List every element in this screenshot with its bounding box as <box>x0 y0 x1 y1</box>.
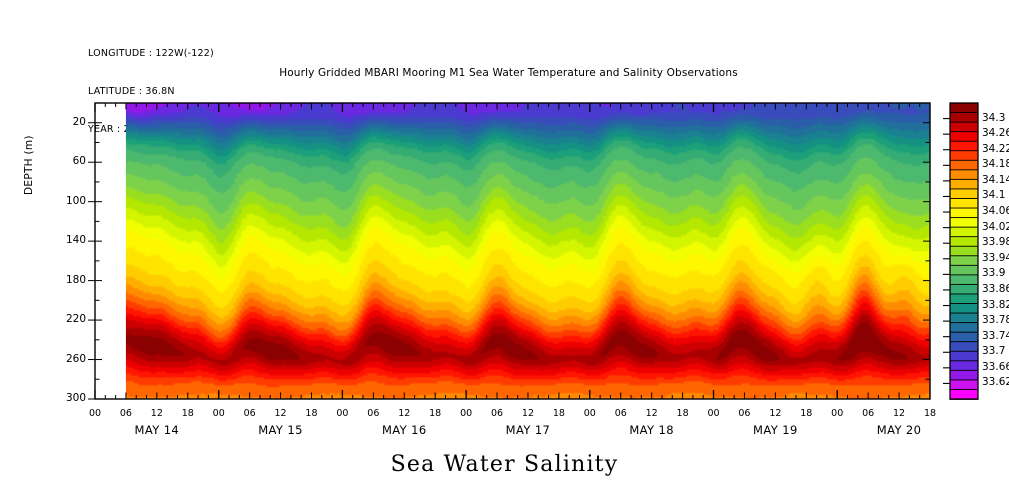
colorbar-tick-label: 33.78 <box>982 315 1009 326</box>
colorbar-tick-label: 34.1 <box>982 190 1005 201</box>
colorbar-tick-label: 34.26 <box>982 128 1009 139</box>
colorbar-tick-label: 33.62 <box>982 377 1009 388</box>
y-tick-label: 140 <box>52 235 86 246</box>
x-tick-hour-label: 18 <box>793 408 819 419</box>
x-tick-hour-label: 00 <box>329 408 355 419</box>
colorbar <box>943 103 978 399</box>
x-tick-day-label: MAY 20 <box>844 423 954 437</box>
colorbar-tick-label: 33.9 <box>982 268 1005 279</box>
x-tick-hour-label: 06 <box>113 408 139 419</box>
x-tick-hour-label: 18 <box>175 408 201 419</box>
y-tick-label: 260 <box>52 354 86 365</box>
colorbar-tick-label: 34.14 <box>982 175 1009 186</box>
x-tick-hour-label: 06 <box>855 408 881 419</box>
x-tick-hour-label: 00 <box>701 408 727 419</box>
x-tick-hour-label: 18 <box>917 408 943 419</box>
salinity-field-image <box>126 103 930 399</box>
x-tick-day-label: MAY 18 <box>597 423 707 437</box>
colorbar-tick-label: 34.18 <box>982 159 1009 170</box>
x-tick-hour-label: 12 <box>515 408 541 419</box>
x-tick-hour-label: 12 <box>886 408 912 419</box>
x-tick-hour-label: 18 <box>546 408 572 419</box>
chart-caption: Sea Water Salinity <box>0 452 1009 477</box>
x-tick-hour-label: 06 <box>608 408 634 419</box>
x-tick-hour-label: 06 <box>731 408 757 419</box>
x-tick-day-label: MAY 14 <box>102 423 212 437</box>
y-tick-label: 60 <box>52 156 86 167</box>
x-tick-hour-label: 12 <box>144 408 170 419</box>
x-tick-day-label: MAY 15 <box>226 423 336 437</box>
x-tick-hour-label: 12 <box>268 408 294 419</box>
colorbar-tick-label: 34.22 <box>982 144 1009 155</box>
colorbar-tick-label: 33.94 <box>982 253 1009 264</box>
x-tick-day-label: MAY 17 <box>473 423 583 437</box>
x-tick-hour-label: 18 <box>422 408 448 419</box>
x-tick-hour-label: 00 <box>206 408 232 419</box>
y-tick-label: 300 <box>52 393 86 404</box>
colorbar-tick-label: 34.06 <box>982 206 1009 217</box>
x-tick-hour-label: 18 <box>298 408 324 419</box>
x-tick-hour-label: 06 <box>484 408 510 419</box>
colorbar-tick-label: 33.74 <box>982 331 1009 342</box>
colorbar-tick-label: 33.86 <box>982 284 1009 295</box>
y-tick-label: 20 <box>52 117 86 128</box>
x-tick-hour-label: 00 <box>824 408 850 419</box>
colorbar-tick-label: 34.3 <box>982 113 1005 124</box>
x-tick-hour-label: 12 <box>762 408 788 419</box>
x-tick-hour-label: 06 <box>237 408 263 419</box>
x-tick-hour-label: 12 <box>639 408 665 419</box>
y-tick-label: 220 <box>52 314 86 325</box>
x-tick-hour-label: 00 <box>453 408 479 419</box>
x-tick-hour-label: 18 <box>670 408 696 419</box>
x-tick-hour-label: 00 <box>82 408 108 419</box>
y-tick-label: 180 <box>52 275 86 286</box>
y-tick-label: 100 <box>52 196 86 207</box>
x-tick-day-label: MAY 19 <box>720 423 830 437</box>
colorbar-tick-label: 33.7 <box>982 346 1005 357</box>
x-tick-hour-label: 06 <box>360 408 386 419</box>
x-tick-hour-label: 00 <box>577 408 603 419</box>
colorbar-tick-label: 33.82 <box>982 300 1009 311</box>
colorbar-tick-label: 34.02 <box>982 222 1009 233</box>
colorbar-tick-label: 33.66 <box>982 362 1009 373</box>
colorbar-tick-label: 33.98 <box>982 237 1009 248</box>
x-tick-hour-label: 12 <box>391 408 417 419</box>
x-tick-day-label: MAY 16 <box>349 423 459 437</box>
